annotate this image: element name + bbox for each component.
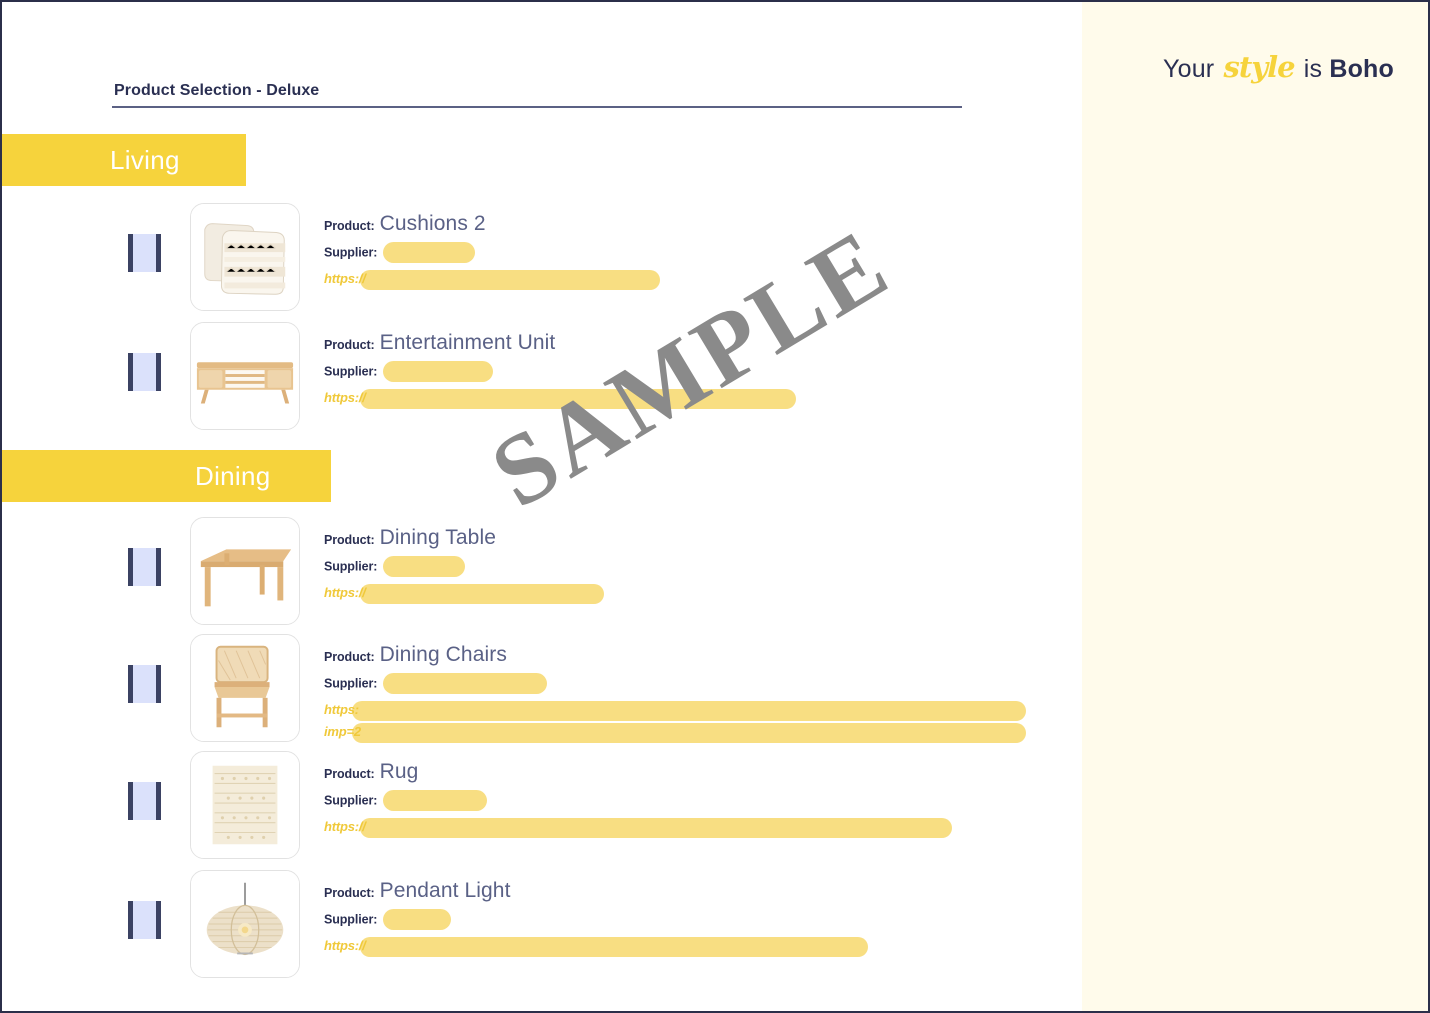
product-checkbox[interactable] — [128, 901, 161, 939]
section-bar-living: Living — [2, 134, 246, 186]
url-prefix-text: https:// — [324, 938, 366, 953]
product-url[interactable]: https:// — [324, 818, 1064, 840]
product-name: Rug — [380, 760, 419, 783]
product-name: Dining Chairs — [380, 643, 507, 666]
product-url[interactable]: https:// — [324, 937, 1064, 959]
supplier-label: Supplier: — [324, 677, 377, 691]
entertainment-unit-thumbnail — [190, 322, 300, 430]
product-checkbox[interactable] — [128, 234, 161, 272]
supplier-redaction — [383, 361, 493, 382]
product-label: Product: — [324, 533, 375, 547]
product-details: Product:Dining TableSupplier:https:// — [324, 526, 1064, 606]
dining-chair-thumbnail — [190, 634, 300, 742]
url-prefix-text: https:// — [324, 585, 366, 600]
pendant-light-thumbnail — [190, 870, 300, 978]
main-content: Product Selection - Deluxe LivingProduct… — [2, 2, 1082, 1013]
url-prefix-text: https: — [324, 702, 359, 717]
product-row: Product:Cushions 2Supplier:https:// — [2, 198, 1082, 316]
product-checkbox[interactable] — [128, 782, 161, 820]
product-label: Product: — [324, 886, 375, 900]
dining-table-thumbnail — [190, 517, 300, 625]
supplier-label: Supplier: — [324, 913, 377, 927]
product-name: Dining Table — [380, 526, 496, 549]
supplier-label: Supplier: — [324, 794, 377, 808]
document-page: Your style is Boho STYLEBOX Product Sele… — [0, 0, 1430, 1013]
branding-sidebar: Your style is Boho STYLEBOX — [1082, 2, 1430, 1013]
product-name: Pendant Light — [380, 879, 511, 902]
supplier-redaction — [383, 556, 465, 577]
product-details: Product:Entertainment UnitSupplier:https… — [324, 331, 1064, 411]
product-row: Product:Entertainment UnitSupplier:https… — [2, 317, 1082, 435]
product-label: Product: — [324, 219, 375, 233]
product-url-line[interactable]: https:// — [324, 937, 1064, 959]
url-prefix-text: https:// — [324, 819, 366, 834]
tagline-word-boho: Boho — [1329, 55, 1394, 83]
url-redaction — [352, 701, 1026, 721]
section-bar-dining: Dining — [2, 450, 331, 502]
product-url-line[interactable]: https:// — [324, 389, 1064, 411]
product-details: Product:Cushions 2Supplier:https:// — [324, 212, 1064, 292]
product-row: Product:Dining TableSupplier:https:// — [2, 512, 1082, 630]
product-checkbox[interactable] — [128, 548, 161, 586]
brand-tagline: Your style is Boho — [1163, 50, 1394, 84]
product-checkbox[interactable] — [128, 665, 161, 703]
product-url-line[interactable]: imp=2 — [324, 723, 1064, 745]
product-label: Product: — [324, 338, 375, 352]
product-label: Product: — [324, 650, 375, 664]
tagline-word-is: is — [1304, 55, 1322, 83]
tagline-word-your: Your — [1163, 55, 1214, 83]
product-url-line[interactable]: https:// — [324, 818, 1064, 840]
supplier-redaction — [383, 909, 451, 930]
product-url[interactable]: https:imp=2 — [324, 701, 1064, 745]
product-label: Product: — [324, 767, 375, 781]
supplier-label: Supplier: — [324, 246, 377, 260]
product-url-line[interactable]: https:// — [324, 270, 1064, 292]
supplier-label: Supplier: — [324, 365, 377, 379]
product-url-line[interactable]: https:// — [324, 584, 1064, 606]
product-name: Cushions 2 — [380, 212, 486, 235]
page-title: Product Selection - Deluxe — [114, 82, 319, 100]
url-redaction — [360, 584, 604, 604]
cushions-thumbnail — [190, 203, 300, 311]
product-details: Product:Pendant LightSupplier:https:// — [324, 879, 1064, 959]
tagline-word-style: style — [1222, 50, 1297, 84]
section-label: Dining — [195, 461, 271, 492]
url-redaction — [360, 389, 796, 409]
url-redaction — [360, 818, 952, 838]
product-url[interactable]: https:// — [324, 270, 1064, 292]
product-name: Entertainment Unit — [380, 331, 556, 354]
product-details: Product:Dining ChairsSupplier:https:imp=… — [324, 643, 1064, 745]
url-redaction — [352, 723, 1026, 743]
product-row: Product:RugSupplier:https:// — [2, 746, 1082, 864]
supplier-redaction — [383, 790, 487, 811]
supplier-redaction — [383, 242, 475, 263]
url-prefix-text: https:// — [324, 390, 366, 405]
url-prefix-text: https:// — [324, 271, 366, 286]
product-row: Product:Dining ChairsSupplier:https:imp=… — [2, 629, 1082, 747]
supplier-label: Supplier: — [324, 560, 377, 574]
rug-thumbnail — [190, 751, 300, 859]
url-prefix-text: imp=2 — [324, 724, 361, 739]
product-row: Product:Pendant LightSupplier:https:// — [2, 865, 1082, 983]
product-checkbox[interactable] — [128, 353, 161, 391]
product-url[interactable]: https:// — [324, 584, 1064, 606]
product-url-line[interactable]: https: — [324, 701, 1064, 723]
product-url[interactable]: https:// — [324, 389, 1064, 411]
section-label: Living — [110, 145, 180, 176]
supplier-redaction — [383, 673, 547, 694]
title-divider — [112, 106, 962, 108]
product-details: Product:RugSupplier:https:// — [324, 760, 1064, 840]
url-redaction — [360, 270, 660, 290]
url-redaction — [360, 937, 868, 957]
